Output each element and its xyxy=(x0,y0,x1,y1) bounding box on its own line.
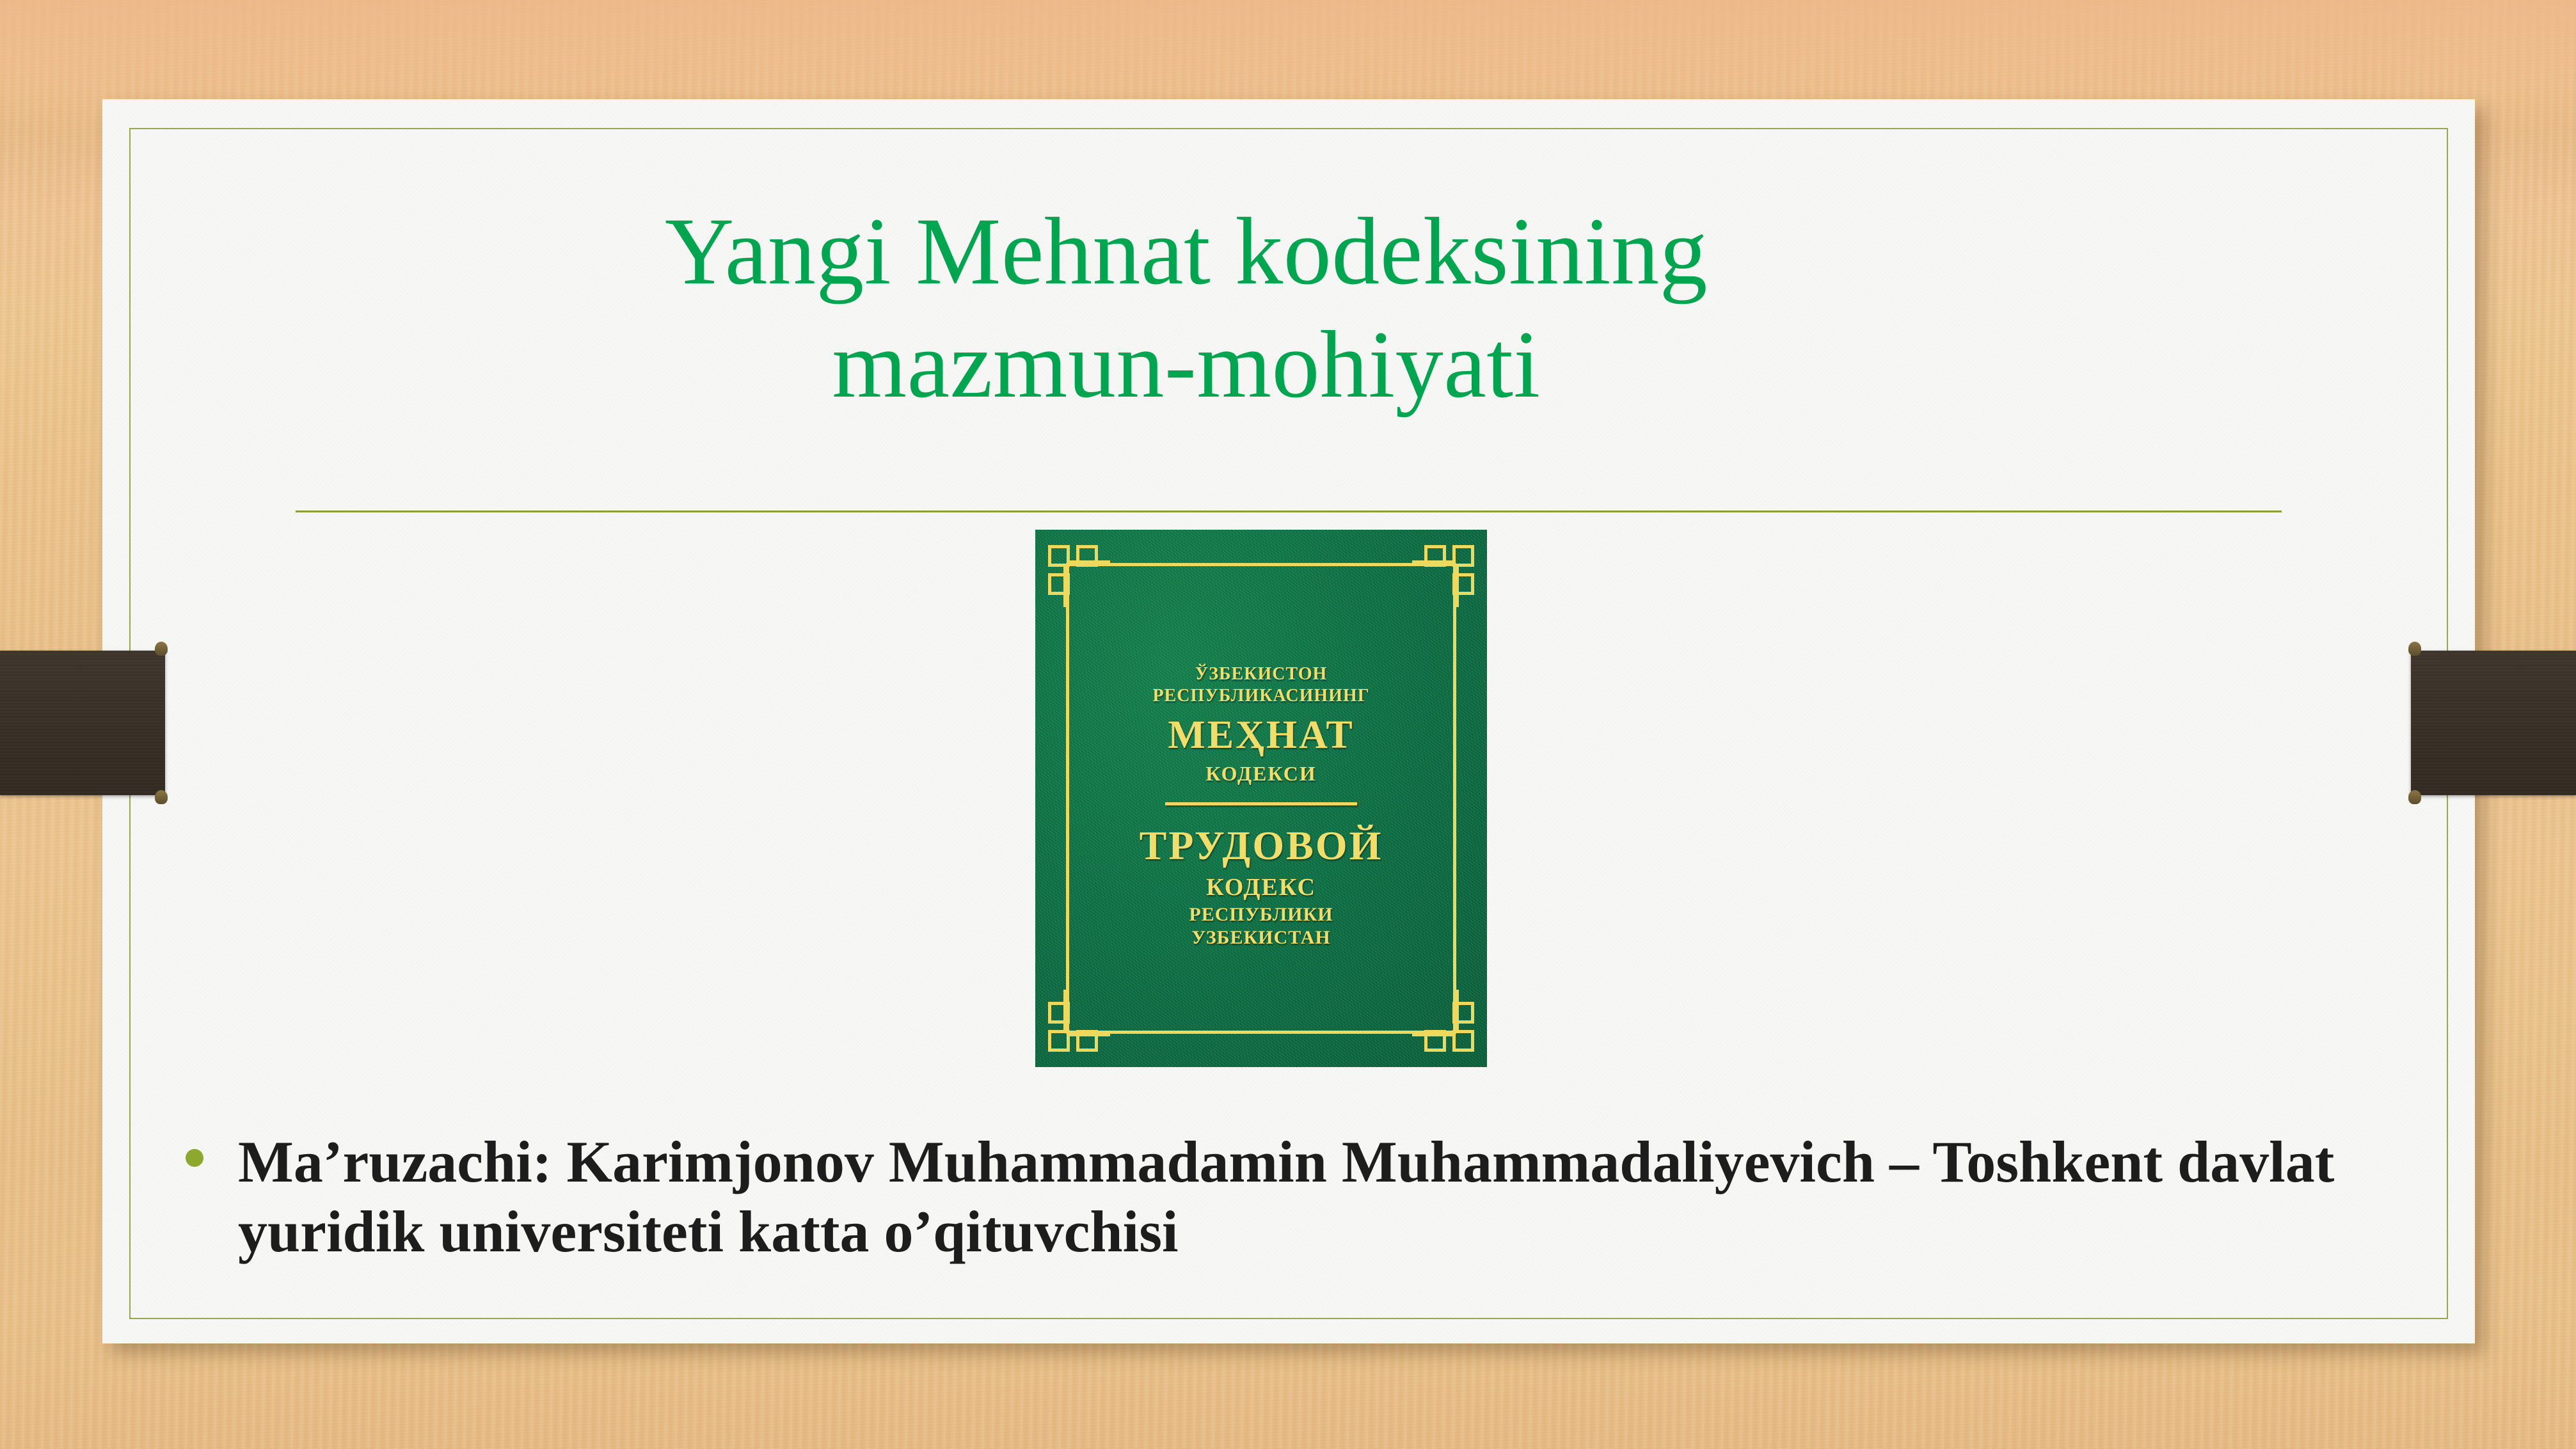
bullet-point-icon xyxy=(186,1149,203,1167)
ribbon-tip-icon xyxy=(155,642,168,656)
ribbon-tip-icon xyxy=(155,790,168,804)
book-line-7: РЕСПУБЛИКИ xyxy=(1035,904,1487,926)
book-line-8: УЗБЕКИСТАН xyxy=(1035,927,1487,949)
left-ribbon-decoration xyxy=(0,651,165,795)
presenter-info-text: Ma’ruzachi: Karimjonov Muhammadamin Muha… xyxy=(238,1127,2361,1266)
book-line-4: КОДЕКСИ xyxy=(1035,762,1487,786)
slide-body: Ma’ruzachi: Karimjonov Muhammadamin Muha… xyxy=(186,1127,2361,1266)
book-corner-ornament-icon xyxy=(1048,993,1107,1052)
book-cover-image: ЎЗБЕКИСТОН РЕСПУБЛИКАСИНИНГ МЕҲНАТ КОДЕК… xyxy=(1035,530,1487,1067)
ribbon-tip-icon xyxy=(2408,790,2421,804)
book-corner-ornament-icon xyxy=(1415,545,1474,604)
book-text-divider xyxy=(1165,802,1357,805)
book-line-5: ТРУДОВОЙ xyxy=(1035,822,1487,869)
title-divider-rule xyxy=(296,511,2282,512)
book-corner-ornament-icon xyxy=(1048,545,1107,604)
book-line-6: КОДЕКС xyxy=(1035,873,1487,901)
book-corner-ornament-icon xyxy=(1415,993,1474,1052)
slide-title: Yangi Mehnat kodeksining mazmun-mohiyati xyxy=(192,195,2181,422)
book-line-3: МЕҲНАТ xyxy=(1035,713,1487,758)
book-cover-text: ЎЗБЕКИСТОН РЕСПУБЛИКАСИНИНГ МЕҲНАТ КОДЕК… xyxy=(1035,664,1487,949)
book-line-1: ЎЗБЕКИСТОН xyxy=(1035,664,1487,685)
ribbon-tip-icon xyxy=(2408,642,2421,656)
list-item: Ma’ruzachi: Karimjonov Muhammadamin Muha… xyxy=(186,1127,2361,1266)
book-line-2: РЕСПУБЛИКАСИНИНГ xyxy=(1035,686,1487,706)
right-ribbon-decoration xyxy=(2411,651,2576,795)
presentation-slide: Yangi Mehnat kodeksining mazmun-mohiyati xyxy=(0,0,2576,1449)
